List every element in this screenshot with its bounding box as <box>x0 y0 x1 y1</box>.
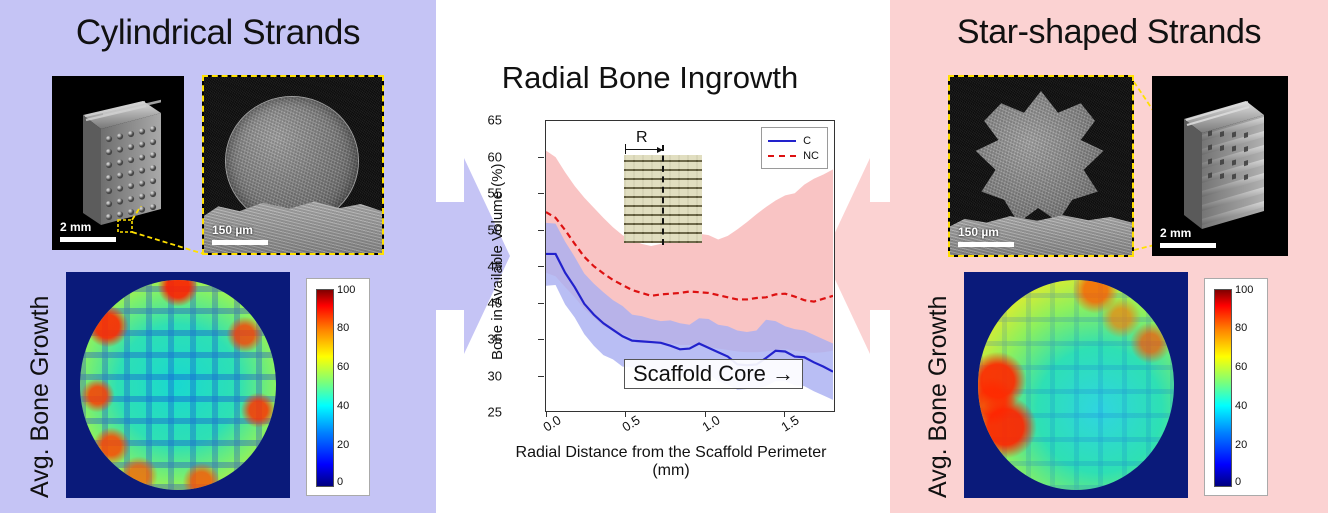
colorbar-tick: 60 <box>1235 361 1247 373</box>
y-tick-label: 35 <box>462 332 502 347</box>
y-tick-label: 50 <box>462 222 502 237</box>
colorbar-tick: 0 <box>1235 476 1241 488</box>
microct-render <box>69 93 167 233</box>
x-tick-label: 0.0 <box>540 412 563 434</box>
y-tick-label: 45 <box>462 259 502 274</box>
y-tick-label: 60 <box>462 149 502 164</box>
scaffold-disc <box>978 280 1174 490</box>
left-overview-scalebar: 2 mm <box>60 221 116 242</box>
legend-entry-nc: NC <box>768 148 819 163</box>
right-heatmap-label: Avg. Bone Growth <box>924 274 953 498</box>
y-tick-mark <box>538 339 544 340</box>
colorbar-tick: 100 <box>1235 284 1253 296</box>
y-tick-label: 40 <box>462 295 502 310</box>
colorbar-tick: 20 <box>1235 439 1247 451</box>
radius-arrow-icon <box>626 149 662 150</box>
chart-x-axis-label: Radial Distance from the Scaffold Perime… <box>496 444 846 481</box>
legend-label: C <box>803 135 811 147</box>
chart-title: Radial Bone Ingrowth <box>440 60 860 96</box>
panel-left-title: Cylindrical Strands <box>0 13 436 53</box>
scaffold-schematic-inset: R <box>618 137 708 245</box>
y-tick-label: 65 <box>462 113 502 128</box>
left-heatmap-label: Avg. Bone Growth <box>26 274 55 498</box>
colorbar-tick: 60 <box>337 361 349 373</box>
x-tick-label: 0.5 <box>619 412 642 434</box>
panel-cylindrical: Cylindrical Strands <box>0 0 436 513</box>
radius-label: R <box>636 129 648 147</box>
left-sem-zoom-image: 150 µm <box>202 75 384 255</box>
colorbar-tick: 40 <box>1235 400 1247 412</box>
scaffold-core-annotation: Scaffold Core → <box>624 359 803 389</box>
microct-block-star <box>1168 93 1272 239</box>
scaffold-center-axis <box>662 145 664 245</box>
y-tick-label: 25 <box>462 405 502 420</box>
colorbar-gradient <box>316 289 334 487</box>
y-tick-label: 55 <box>462 186 502 201</box>
y-tick-mark <box>538 157 544 158</box>
legend-label: NC <box>803 150 819 162</box>
left-bone-growth-heatmap <box>66 272 290 498</box>
colorbar-tick: 100 <box>337 284 355 296</box>
left-sem-overview-image: 2 mm <box>52 76 184 250</box>
right-sem-overview-image: 2 mm <box>1152 76 1288 256</box>
colorbar-gradient <box>1214 289 1232 487</box>
legend-line-solid-icon <box>768 140 796 142</box>
legend-entry-c: C <box>768 133 819 148</box>
right-zoom-scalebar: 150 µm <box>958 226 1014 247</box>
x-tick-label: 1.5 <box>778 412 801 434</box>
y-tick-mark <box>538 266 544 267</box>
right-heatmap-block: Avg. Bone Growth 100 80 60 40 20 0 <box>916 268 1316 504</box>
left-heatmap-block: Avg. Bone Growth 100 80 60 40 20 0 <box>18 268 418 504</box>
colorbar-tick: 20 <box>337 439 349 451</box>
microct-render <box>1168 93 1272 239</box>
right-colorbar: 100 80 60 40 20 0 <box>1204 278 1268 496</box>
colorbar-tick: 40 <box>337 400 349 412</box>
colorbar-tick: 0 <box>337 476 343 488</box>
radial-bone-ingrowth-chart: Bone in Available Volume (%) 65 60 55 50… <box>496 112 846 412</box>
y-tick-mark <box>538 376 544 377</box>
colorbar-tick: 80 <box>337 322 349 334</box>
right-overview-scalebar: 2 mm <box>1160 227 1216 248</box>
legend-line-dashed-icon <box>768 155 796 157</box>
scaffold-disc <box>80 280 276 490</box>
chart-legend: C NC <box>761 127 828 169</box>
cylindrical-strand-cross-section <box>226 97 358 225</box>
y-tick-mark <box>538 193 544 194</box>
x-tick-label: 1.0 <box>699 412 722 434</box>
panel-right-title: Star-shaped Strands <box>890 13 1328 52</box>
colorbar-tick: 80 <box>1235 322 1247 334</box>
right-sem-zoom-image: 150 µm <box>948 75 1134 257</box>
y-tick-mark <box>538 230 544 231</box>
left-zoom-scalebar: 150 µm <box>212 224 268 245</box>
panel-star-shaped: Star-shaped Strands 150 µm <box>890 0 1328 513</box>
y-tick-label: 30 <box>462 368 502 383</box>
heatmap-rim-hotspots <box>978 280 1174 490</box>
left-colorbar: 100 80 60 40 20 0 <box>306 278 370 496</box>
heatmap-rim-hotspots <box>80 280 276 490</box>
right-bone-growth-heatmap <box>964 272 1188 498</box>
microct-block-cylindrical <box>69 93 167 233</box>
y-tick-mark <box>538 303 544 304</box>
chart-plot-area: R C NC Scaffold Core → <box>545 120 835 412</box>
